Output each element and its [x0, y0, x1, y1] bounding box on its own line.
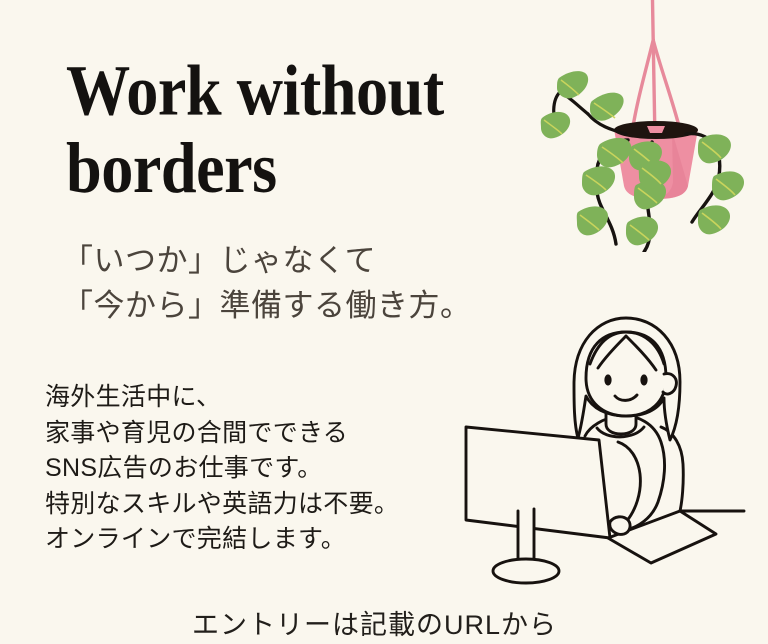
entry-instruction-text: エントリーは記載のURLから: [192, 606, 557, 644]
mouth: [615, 395, 637, 400]
plant-hanger-ropes: [632, 0, 682, 140]
subheadline: 「いつか」じゃなくて 「今から」準備する働き方。: [62, 238, 472, 328]
plant-leaves-left-outer: [541, 71, 624, 138]
monitor-screen: [466, 427, 610, 538]
monitor-stand: [518, 509, 534, 568]
bang-left: [598, 336, 626, 368]
arm-right-outer: [661, 427, 683, 511]
hanging-plant-icon: [540, 0, 768, 252]
neck: [606, 409, 636, 434]
hair: [574, 318, 680, 440]
desk-surface: [608, 511, 716, 563]
plant-vine-left-inner: [596, 140, 628, 244]
plant-pot: [614, 121, 698, 199]
body-copy: 海外生活中に、 家事や育児の合間でできる SNS広告のお仕事です。 特別なスキル…: [45, 380, 399, 558]
page-title: Work without borders: [66, 52, 545, 207]
eye-left: [604, 374, 611, 385]
hair-part: [590, 332, 664, 364]
ear: [663, 374, 676, 394]
collar: [597, 427, 644, 437]
plant-leaves-right: [698, 134, 744, 234]
shoulder-left: [585, 416, 618, 436]
monitor-base: [493, 559, 559, 583]
arm-left-inner: [618, 442, 640, 522]
plant-leaves-center: [626, 141, 666, 245]
plant-vine-left-outer: [554, 92, 626, 134]
hand: [610, 517, 630, 535]
face: [586, 332, 666, 416]
woman-at-computer-icon: [458, 306, 768, 591]
eye-right: [640, 374, 647, 385]
bang-right: [626, 336, 656, 370]
torso: [618, 416, 665, 530]
plant-vine-center: [643, 142, 652, 252]
plant-leaves-left-inner: [577, 138, 632, 236]
poster-canvas: Work without borders 「いつか」じゃなくて 「今から」準備す…: [0, 0, 768, 644]
plant-vine-right: [686, 134, 720, 222]
plant-leaves-front: [639, 160, 671, 189]
